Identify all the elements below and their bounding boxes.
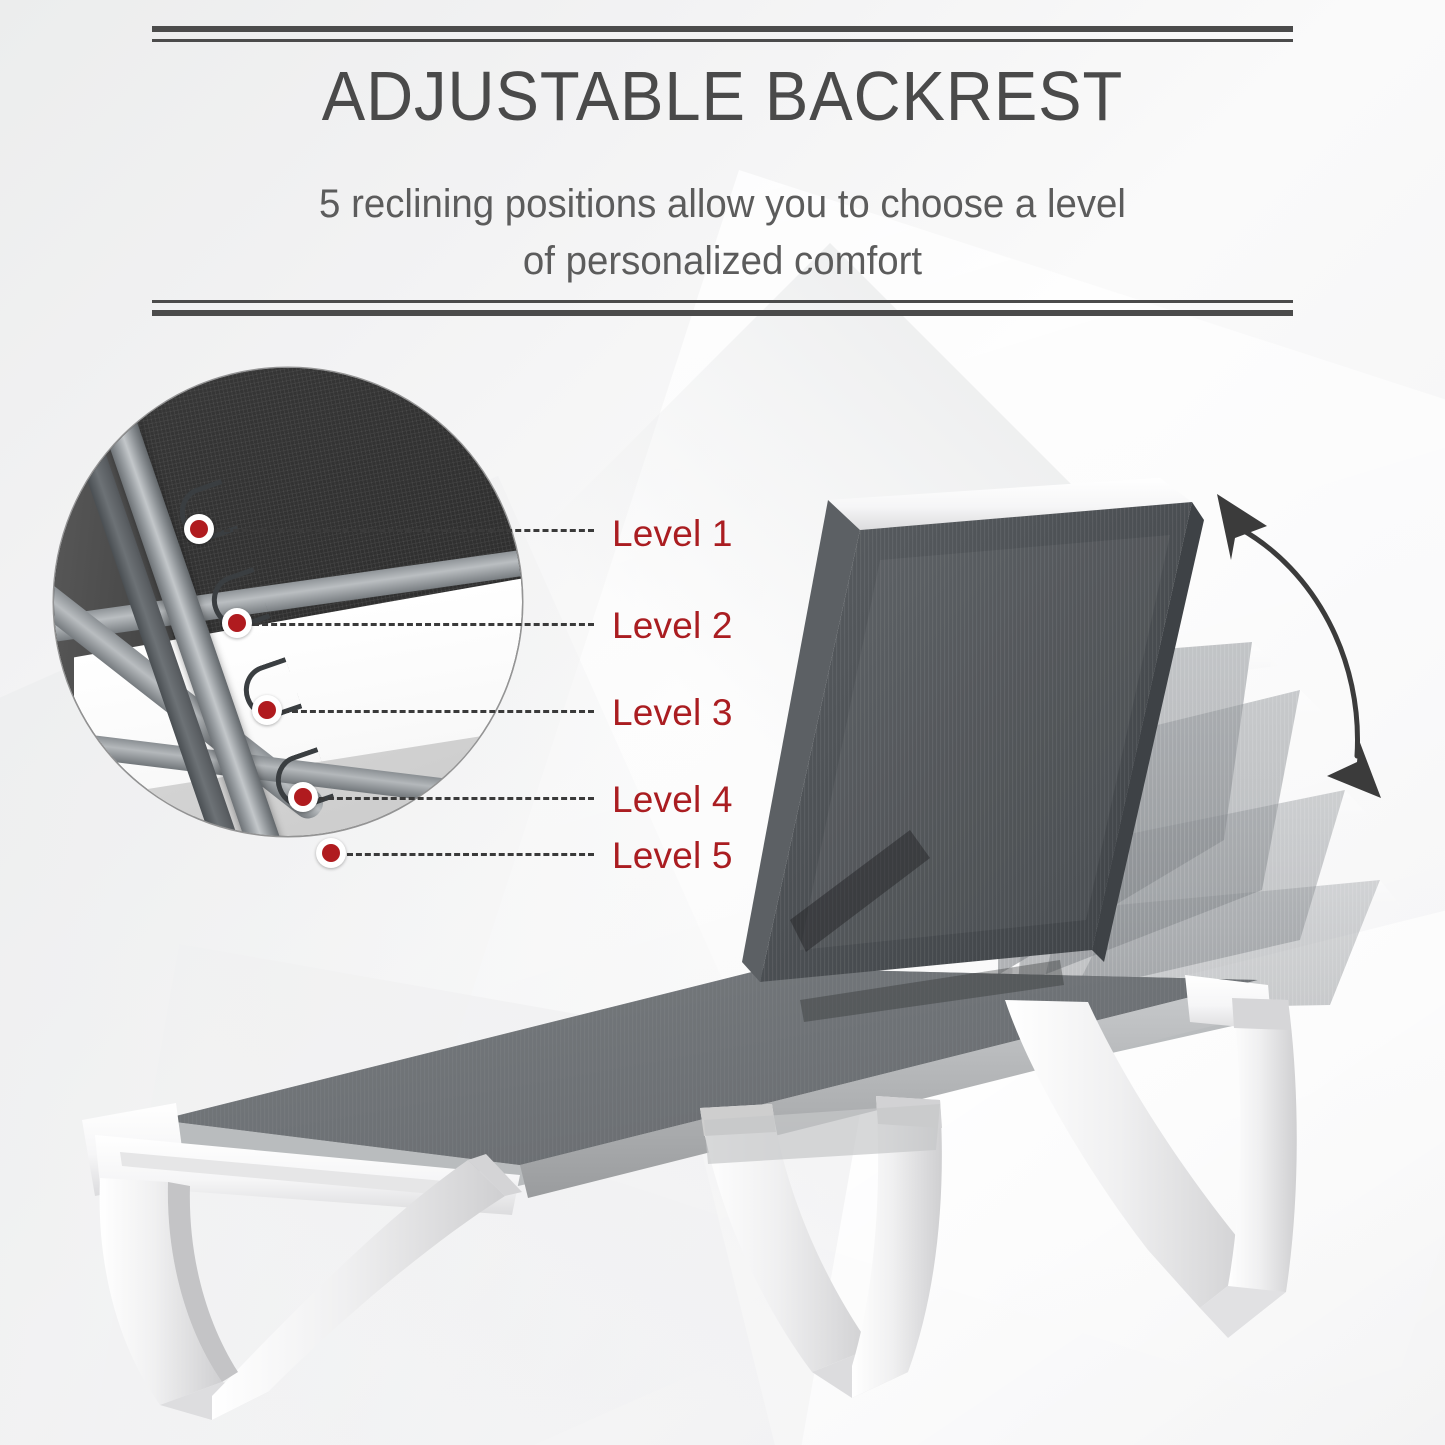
level-label-4: Level 4 (612, 779, 733, 821)
double-headed-recline-arc (1195, 480, 1385, 810)
level-marker-dot-4 (288, 782, 318, 812)
level-leader-line-5 (347, 853, 594, 856)
level-marker-dot-5 (316, 838, 346, 868)
level-label-2: Level 2 (612, 605, 733, 647)
level-marker-dot-2 (222, 608, 252, 638)
level-marker-dot-1 (184, 514, 214, 544)
product-feature-panel: ADJUSTABLE BACKREST 5 reclining position… (0, 0, 1445, 1445)
level-marker-dot-3 (252, 695, 282, 725)
level-label-5: Level 5 (612, 835, 733, 877)
level-leader-line-2 (253, 623, 594, 626)
level-leader-line-3 (283, 710, 594, 713)
level-label-3: Level 3 (612, 692, 733, 734)
lounger-rear-leg (1005, 998, 1297, 1338)
lounger-middle-leg (700, 1096, 942, 1398)
level-label-1: Level 1 (612, 513, 733, 555)
magnified-recline-mechanism (54, 368, 522, 836)
level-leader-line-1 (215, 529, 594, 532)
level-leader-line-4 (319, 797, 594, 800)
